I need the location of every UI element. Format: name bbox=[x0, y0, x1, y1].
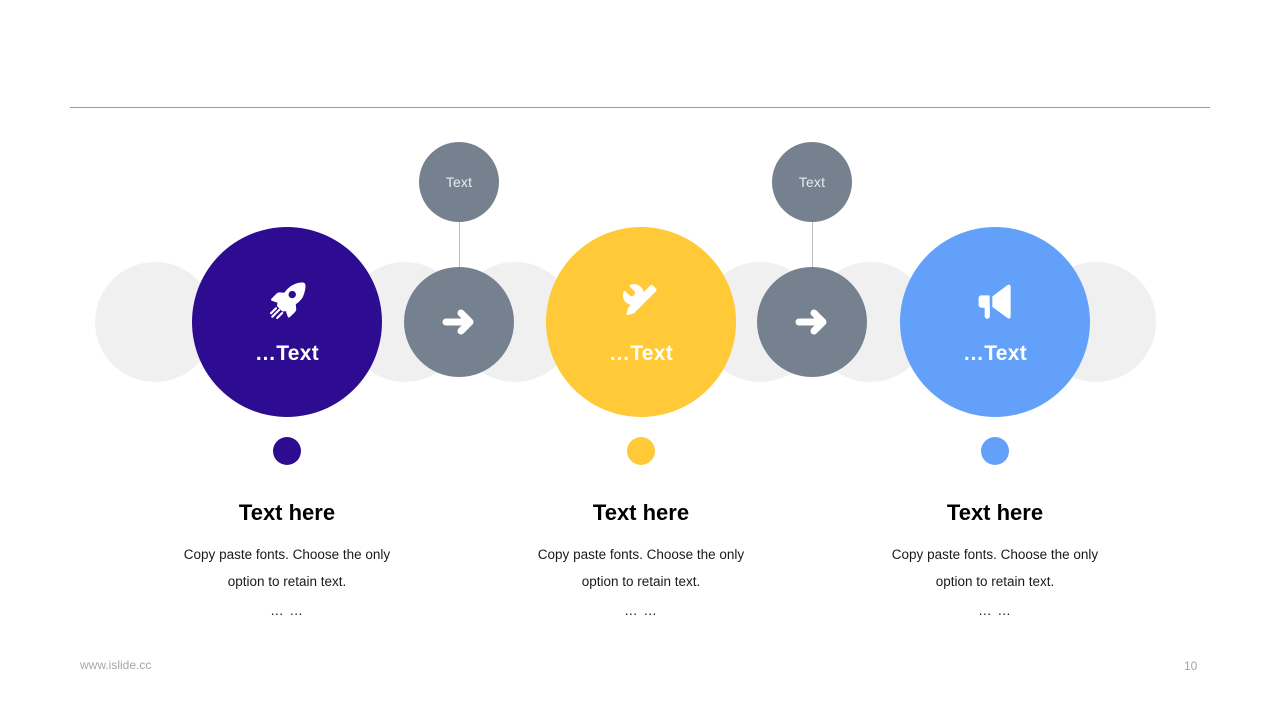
step-text-block-2: Text here Copy paste fonts. Choose the o… bbox=[491, 500, 791, 618]
step-text-block-1: Text here Copy paste fonts. Choose the o… bbox=[137, 500, 437, 618]
title-divider bbox=[70, 107, 1210, 108]
mini-label-text: Text bbox=[799, 174, 825, 190]
mini-label-circle-1[interactable]: Text bbox=[419, 142, 499, 222]
feature-circle-label: …Text bbox=[255, 342, 319, 366]
feature-circle-3[interactable]: …Text bbox=[900, 227, 1090, 417]
step-ellipsis: … … bbox=[137, 603, 437, 618]
step-body-line-1: Copy paste fonts. Choose the only bbox=[137, 542, 437, 568]
step-body-line-2: option to retain text. bbox=[137, 569, 437, 595]
feature-circle-2[interactable]: …Text bbox=[546, 227, 736, 417]
step-body-line-2: option to retain text. bbox=[845, 569, 1145, 595]
feature-circle-1[interactable]: …Text bbox=[192, 227, 382, 417]
feature-circle-label: …Text bbox=[963, 342, 1027, 366]
connector-line-2 bbox=[812, 218, 813, 270]
step-dot-3 bbox=[981, 437, 1009, 465]
step-body-line-1: Copy paste fonts. Choose the only bbox=[491, 542, 791, 568]
slide-canvas: Text Text bbox=[0, 0, 1280, 720]
arrow-circle-1[interactable] bbox=[404, 267, 514, 377]
arrow-right-icon bbox=[436, 299, 482, 345]
step-ellipsis: … … bbox=[845, 603, 1145, 618]
connector-line-1 bbox=[459, 218, 460, 270]
megaphone-icon bbox=[971, 278, 1019, 326]
arrow-circle-2[interactable] bbox=[757, 267, 867, 377]
step-ellipsis: … … bbox=[491, 603, 791, 618]
step-dot-1 bbox=[273, 437, 301, 465]
mini-label-circle-2[interactable]: Text bbox=[772, 142, 852, 222]
step-dot-2 bbox=[627, 437, 655, 465]
step-heading: Text here bbox=[137, 500, 437, 526]
step-body-line-2: option to retain text. bbox=[491, 569, 791, 595]
step-text-block-3: Text here Copy paste fonts. Choose the o… bbox=[845, 500, 1145, 618]
rocket-icon bbox=[263, 278, 311, 326]
step-heading: Text here bbox=[845, 500, 1145, 526]
page-number: 10 bbox=[1184, 659, 1197, 673]
step-body-line-1: Copy paste fonts. Choose the only bbox=[845, 542, 1145, 568]
mini-label-text: Text bbox=[446, 174, 472, 190]
footer-url[interactable]: www.islide.cc bbox=[80, 658, 151, 672]
feature-circle-label: …Text bbox=[609, 342, 673, 366]
tools-icon bbox=[617, 278, 665, 326]
step-heading: Text here bbox=[491, 500, 791, 526]
arrow-right-icon bbox=[789, 299, 835, 345]
